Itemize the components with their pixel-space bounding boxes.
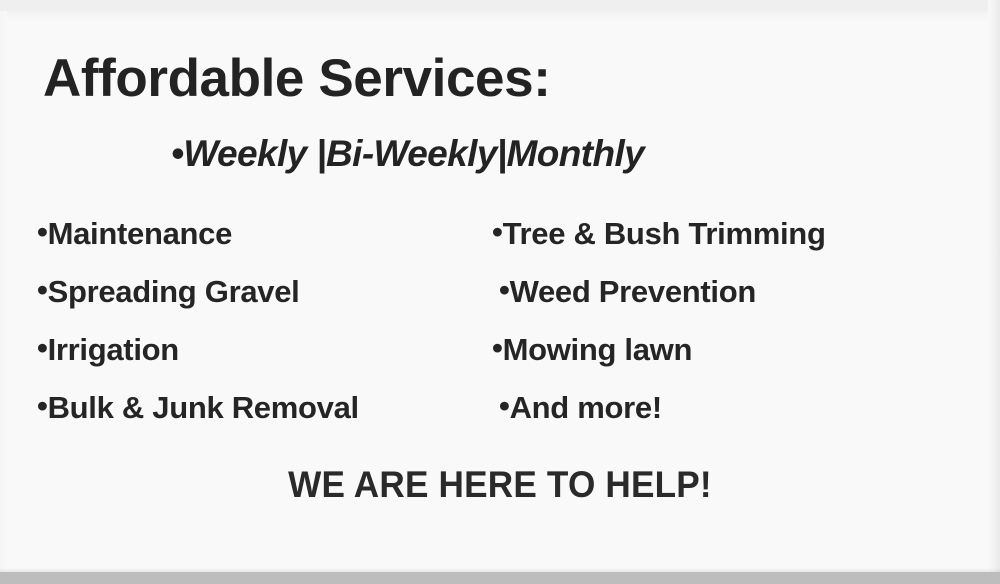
page-title: Affordable Services:: [43, 52, 550, 105]
list-item-label: Maintenance: [48, 216, 232, 251]
bullet-icon: •: [37, 332, 48, 363]
list-item: •Mowing lawn: [492, 334, 826, 392]
bullet-icon: •: [37, 274, 48, 305]
bullet-icon: •: [499, 390, 510, 421]
services-column-left: •Maintenance •Spreading Gravel •Irrigati…: [37, 218, 359, 450]
list-item: •Maintenance: [37, 218, 359, 276]
bullet-icon: •: [492, 332, 503, 363]
bullet-icon: •: [492, 216, 503, 247]
list-item-label: Irrigation: [48, 332, 179, 367]
list-item-label: And more!: [510, 390, 662, 425]
bullet-icon: •: [499, 274, 510, 305]
list-item: •Tree & Bush Trimming: [492, 218, 826, 276]
list-item-label: Tree & Bush Trimming: [503, 216, 826, 251]
frequency-subtitle: •Weekly |Bi-Weekly|Monthly: [171, 135, 644, 172]
bullet-icon: •: [37, 216, 48, 247]
list-item-label: Weed Prevention: [510, 274, 756, 309]
bottom-shelf-band: [0, 572, 1000, 584]
list-item-label: Spreading Gravel: [48, 274, 300, 309]
list-item: •Spreading Gravel: [37, 276, 359, 334]
services-column-right: •Tree & Bush Trimming •Weed Prevention •…: [492, 218, 826, 450]
services-flyer: Affordable Services: •Weekly |Bi-Weekly|…: [0, 0, 1000, 584]
list-item: •Irrigation: [37, 334, 359, 392]
list-item-label: Bulk & Junk Removal: [48, 390, 359, 425]
call-to-action-text: WE ARE HERE TO HELP!: [25, 466, 975, 503]
list-item: •And more!: [492, 392, 826, 450]
bullet-icon: •: [37, 390, 48, 421]
list-item: •Weed Prevention: [492, 276, 826, 334]
list-item-label: Mowing lawn: [503, 332, 693, 367]
flyer-content: Affordable Services: •Weekly |Bi-Weekly|…: [0, 0, 1000, 584]
list-item: •Bulk & Junk Removal: [37, 392, 359, 450]
